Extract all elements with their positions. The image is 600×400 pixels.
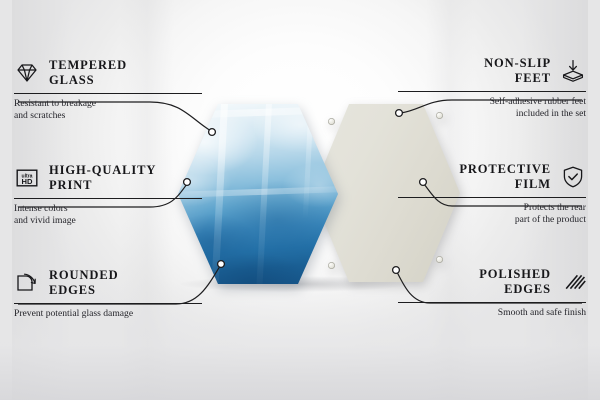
feature-description: Prevent potential glass damage — [14, 308, 202, 320]
feature-rule — [14, 198, 202, 199]
feature-description: Smooth and safe finish — [398, 307, 586, 319]
watercolour-texture — [178, 104, 338, 284]
feature-rule — [398, 302, 586, 303]
feature-title: POLISHED EDGES — [479, 267, 551, 296]
feature-description: Intense colors and vivid image — [14, 203, 202, 226]
window-reflection — [256, 104, 273, 284]
diamond-icon — [14, 60, 40, 86]
feature-protective-film[interactable]: PROTECTIVE FILM Protects the rear part o… — [398, 162, 586, 225]
feature-rule — [14, 303, 202, 304]
feature-title: ROUNDED EDGES — [49, 268, 119, 297]
window-reflection — [303, 104, 315, 219]
window-reflection — [178, 106, 338, 119]
feature-polished-edges[interactable]: POLISHED EDGES Smooth and safe finish — [398, 267, 586, 319]
feature-title: TEMPERED GLASS — [49, 58, 127, 87]
feature-non-slip-feet[interactable]: NON-SLIP FEET Self-adhesive rubber feet … — [398, 56, 586, 119]
glass-hexagon — [178, 104, 338, 284]
feature-title: HIGH-QUALITY PRINT — [49, 163, 156, 192]
diagonal-lines-icon — [560, 269, 586, 295]
feature-title: NON-SLIP FEET — [484, 56, 551, 85]
feature-description: Resistant to breakage and scratches — [14, 98, 202, 121]
feature-tempered-glass[interactable]: TEMPERED GLASS Resistant to breakage and… — [14, 58, 202, 121]
press-down-foot-icon — [560, 58, 586, 84]
feature-rounded-edges[interactable]: ROUNDED EDGES Prevent potential glass da… — [14, 268, 202, 320]
feature-rule — [14, 93, 202, 94]
window-reflection — [178, 185, 338, 197]
shield-check-icon — [560, 164, 586, 190]
feature-rule — [398, 197, 586, 198]
feature-rule — [398, 91, 586, 92]
feature-title: PROTECTIVE FILM — [459, 162, 551, 191]
window-reflection — [211, 104, 229, 284]
watercolour-texture — [178, 104, 338, 284]
feature-high-quality-print[interactable]: ultra HD HIGH-QUALITY PRINT Intense colo… — [14, 163, 202, 226]
rubber-foot — [436, 256, 443, 263]
infographic-canvas: TEMPERED GLASS Resistant to breakage and… — [0, 0, 600, 400]
svg-text:HD: HD — [22, 177, 33, 186]
feature-description: Self-adhesive rubber feet included in th… — [398, 96, 586, 119]
ultra-hd-icon: ultra HD — [14, 165, 40, 191]
rounded-corner-icon — [14, 270, 40, 296]
feature-description: Protects the rear part of the product — [398, 202, 586, 225]
